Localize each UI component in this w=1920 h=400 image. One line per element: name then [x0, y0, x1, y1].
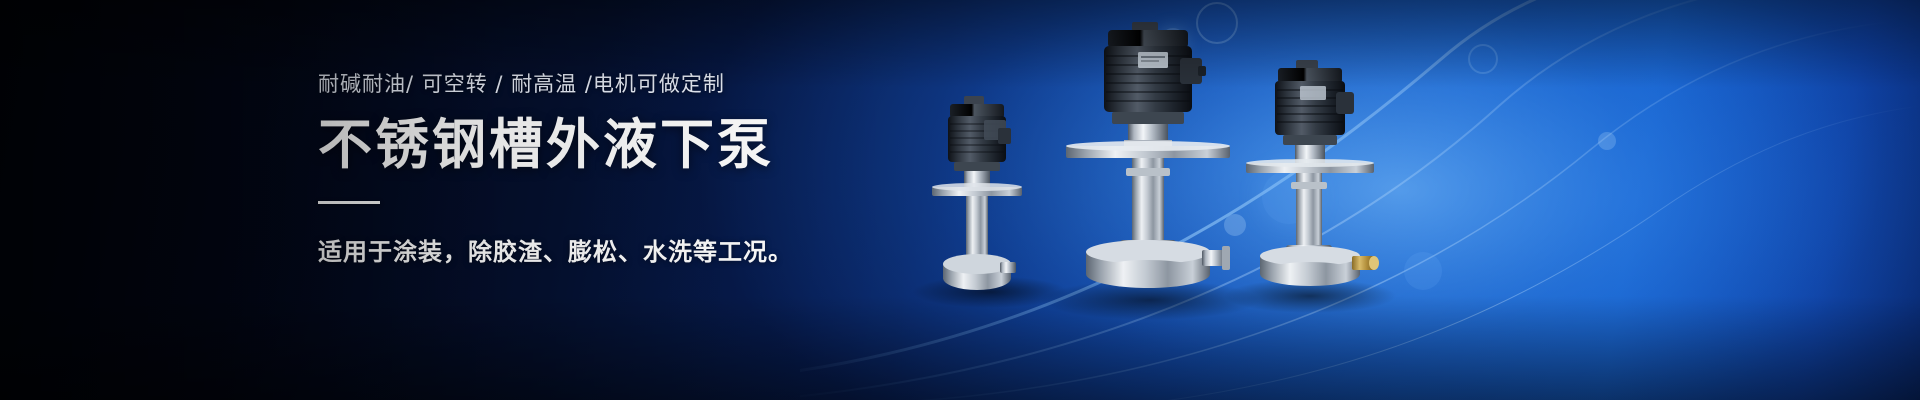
- pump-center: [1066, 22, 1230, 288]
- banner-headline: 不锈钢槽外液下泵: [318, 115, 1078, 174]
- divider-rule: [318, 201, 380, 204]
- banner-tagline: 耐碱耐油/ 可空转 / 耐高温 /电机可做定制: [318, 72, 1078, 97]
- banner-copy: 耐碱耐油/ 可空转 / 耐高温 /电机可做定制 不锈钢槽外液下泵 适用于涂装，除…: [318, 72, 1078, 267]
- pump-right: [1246, 60, 1379, 286]
- product-hero-banner: 耐碱耐油/ 可空转 / 耐高温 /电机可做定制 不锈钢槽外液下泵 适用于涂装，除…: [0, 0, 1920, 400]
- banner-description: 适用于涂装，除胶渣、膨松、水洗等工况。: [318, 232, 1078, 267]
